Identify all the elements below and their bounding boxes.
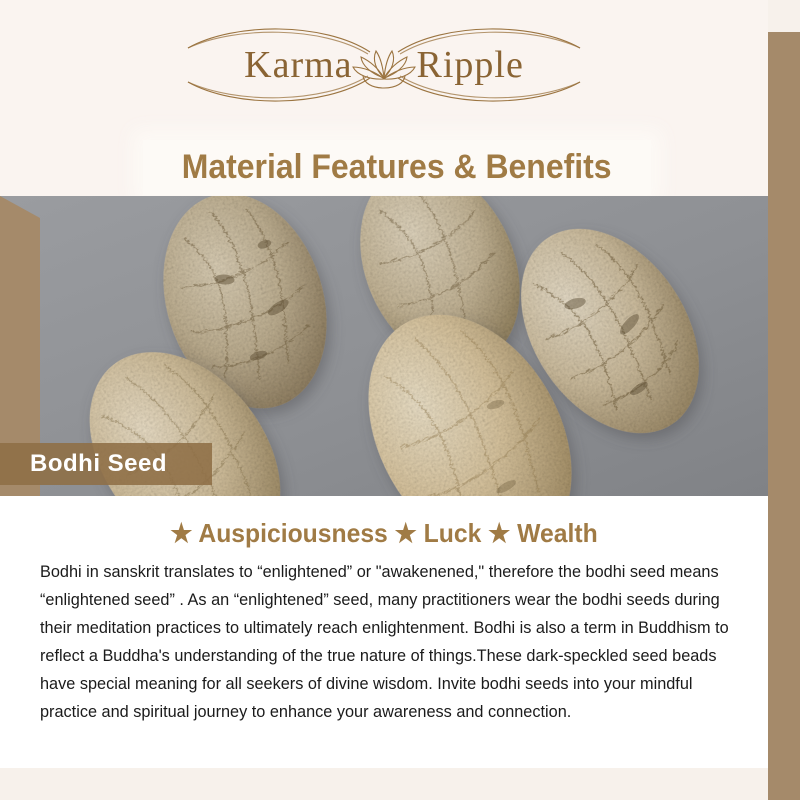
brand-header: Karma Ripple xyxy=(0,0,768,130)
benefits-line: ★ Auspiciousness ★ Luck ★ Wealth xyxy=(19,518,749,549)
brand-name-right: Ripple xyxy=(417,43,524,87)
photo-caption: Bodhi Seed xyxy=(30,450,167,478)
brand-name-left: Karma xyxy=(244,43,352,87)
photo-caption-band: Bodhi Seed xyxy=(0,443,212,485)
top-right-frame-strip xyxy=(768,0,800,32)
brand-logo: Karma Ripple xyxy=(164,20,604,110)
brand-name: Karma Ripple xyxy=(244,43,524,87)
description-text: Bodhi in sanskrit translates to “enlight… xyxy=(40,558,740,726)
page-title: Material Features & Benefits xyxy=(182,148,612,187)
infographic-page: Karma Ripple Material Features & Benefit… xyxy=(0,0,800,800)
bottom-frame-strip xyxy=(0,768,768,800)
title-banner: Material Features & Benefits xyxy=(143,140,651,195)
description-panel: ★ Auspiciousness ★ Luck ★ Wealth Bodhi i… xyxy=(0,496,768,768)
